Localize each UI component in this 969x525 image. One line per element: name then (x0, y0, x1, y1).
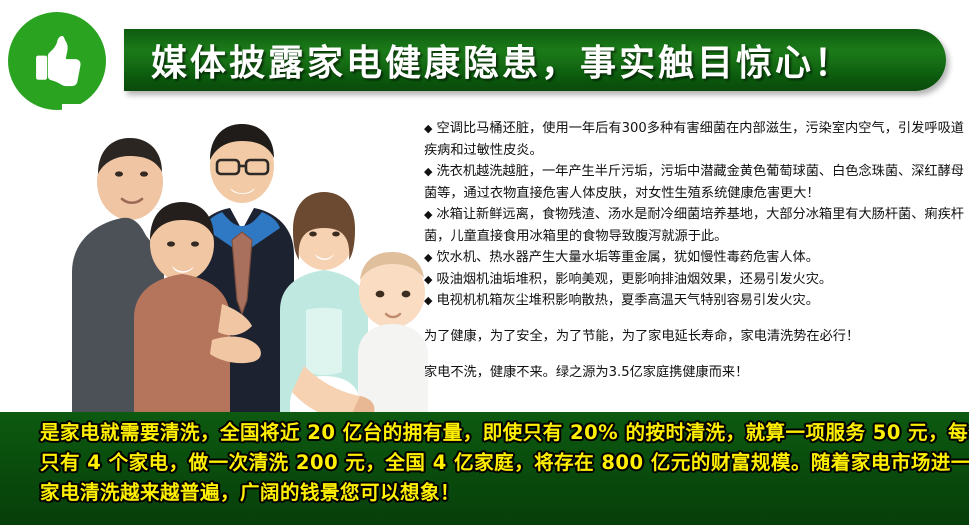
diamond-bullet-icon: ◆ (424, 251, 432, 264)
list-item: ◆冰箱让新鲜远离，食物残渣、汤水是耐冷细菌培养基地，大部分冰箱里有大肠杆菌、痢疾… (424, 204, 964, 247)
list-item: ◆饮水机、热水器产生大量水垢等重金属，犹如慢性毒药危害人体。 (424, 247, 964, 269)
diamond-bullet-icon: ◆ (424, 208, 432, 221)
banner-line: 家电清洗越来越普遍，广阔的钱景您可以想象！ (40, 478, 940, 508)
list-item: ◆吸油烟机油垢堆积，影响美观，更影响排油烟效果，还易引发火灾。 (424, 269, 964, 291)
bullet-text: 饮水机、热水器产生大量水垢等重金属，犹如慢性毒药危害人体。 (436, 250, 818, 265)
thumbs-up-icon (26, 30, 88, 92)
diamond-bullet-icon: ◆ (424, 294, 432, 307)
closing-line: 家电不洗，健康不来。绿之源为3.5亿家庭携健康而来！ (424, 361, 964, 384)
bullet-text: 冰箱让新鲜远离，食物残渣、汤水是耐冷细菌培养基地，大部分冰箱里有大肠杆菌、痢疾杆… (424, 207, 964, 244)
list-item: ◆电视机机箱灰尘堆积影响散热，夏季高温天气特别容易引发火灾。 (424, 290, 964, 312)
banner-line: 只有 4 个家电，做一次清洗 200 元，全国 4 亿家庭，将存在 800 亿元… (40, 448, 940, 478)
family-photo (62, 104, 428, 434)
diamond-bullet-icon: ◆ (424, 122, 433, 135)
poster-header: 媒体披露家电健康隐患，事实触目惊心！ (0, 0, 969, 112)
promo-poster: 媒体披露家电健康隐患，事实触目惊心！ (0, 0, 969, 525)
brand-logo (8, 12, 106, 110)
bullet-text: 空调比马桶还脏，使用一年后有300多种有害细菌在内部滋生，污染室内空气，引发呼吸… (424, 121, 964, 158)
bullet-text: 电视机机箱灰尘堆积影响散热，夏季高温天气特别容易引发火灾。 (436, 293, 818, 308)
banner-line: 是家电就需要清洗，全国将近 20 亿台的拥有量，即使只有 20% 的按时清洗，就… (40, 418, 940, 448)
bottom-banner: 是家电就需要清洗，全国将近 20 亿台的拥有量，即使只有 20% 的按时清洗，就… (0, 412, 969, 525)
article-body: ◆空调比马桶还脏，使用一年后有300多种有害细菌在内部滋生，污染室内空气，引发呼… (424, 118, 964, 397)
bottom-banner-lines: 是家电就需要清洗，全国将近 20 亿台的拥有量，即使只有 20% 的按时清洗，就… (40, 418, 940, 508)
list-item: ◆洗衣机越洗越脏，一年产生半斤污垢，污垢中潜藏金黄色葡萄球菌、白色念珠菌、深红酵… (424, 161, 964, 204)
diamond-bullet-icon: ◆ (424, 273, 432, 286)
closing-line: 为了健康，为了安全，为了节能，为了家电延长寿命，家电清洗势在必行！ (424, 325, 964, 348)
page-title: 媒体披露家电健康隐患，事实触目惊心！ (151, 34, 853, 86)
bullet-text: 洗衣机越洗越脏，一年产生半斤污垢，污垢中潜藏金黄色葡萄球菌、白色念珠菌、深红酵母… (424, 164, 964, 201)
headline-banner: 媒体披露家电健康隐患，事实触目惊心！ (124, 29, 946, 91)
bullet-text: 吸油烟机油垢堆积，影响美观，更影响排油烟效果，还易引发火灾。 (436, 272, 832, 287)
list-item: ◆空调比马桶还脏，使用一年后有300多种有害细菌在内部滋生，污染室内空气，引发呼… (424, 118, 964, 161)
diamond-bullet-icon: ◆ (424, 165, 432, 178)
